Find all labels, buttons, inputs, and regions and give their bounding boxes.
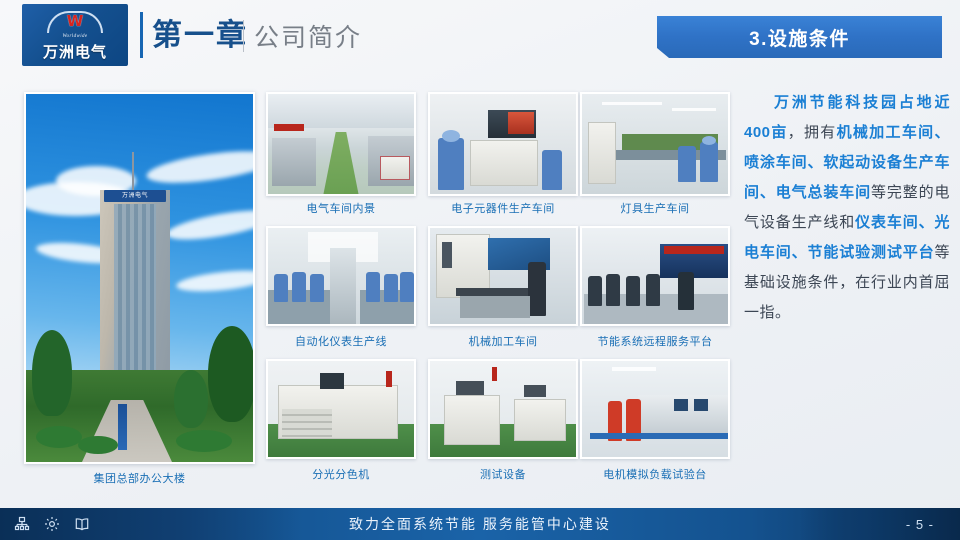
sitemap-icon[interactable]: [14, 516, 30, 532]
gallery-caption-9: 电机模拟负载试验台: [580, 466, 730, 482]
slide-footer: 致力全面系统节能 服务能管中心建设: [0, 508, 960, 540]
gallery-photo-5: [428, 226, 578, 326]
section-badge: 3.设施条件: [657, 16, 942, 58]
gallery-caption-5: 机械加工车间: [428, 333, 578, 349]
logo-emblem-icon: W: [47, 11, 103, 33]
gallery-caption-8: 测试设备: [428, 466, 578, 482]
gallery-caption-7: 分光分色机: [266, 466, 416, 482]
gallery-caption-2: 电子元器件生产车间: [428, 200, 578, 216]
building-sign: 万洲电气: [104, 190, 166, 202]
gallery-caption-6: 节能系统远程服务平台: [580, 333, 730, 349]
gallery-photo-4: [266, 226, 416, 326]
title-separator: [243, 20, 244, 52]
headquarters-photo-caption: 集团总部办公大楼: [24, 470, 255, 486]
logo-emblem-letter: W: [47, 13, 103, 30]
gallery-photo-3: [580, 92, 730, 196]
description-panel: 万洲节能科技园占地近400亩，拥有机械加工车间、喷涂车间、软起动设备生产车间、电…: [744, 88, 950, 488]
gallery-item-4: [266, 226, 416, 326]
gallery-photo-9: [580, 359, 730, 459]
gallery-photo-2: [428, 92, 578, 196]
gallery-item-7: [266, 359, 416, 459]
gallery-item-6: [580, 226, 730, 326]
gallery-item-9: [580, 359, 730, 459]
slide-header: W Worldwide 万洲电气 第一章 公司简介 3.设施条件: [0, 0, 960, 78]
gallery-photo-7: [266, 359, 416, 459]
gallery-caption-3: 灯具生产车间: [580, 200, 730, 216]
headquarters-photo: 万洲电气: [24, 92, 255, 464]
page-number: - 5 -: [906, 508, 934, 540]
logo-company-name: 万洲电气: [43, 41, 107, 62]
gallery-caption-4: 自动化仪表生产线: [266, 333, 416, 349]
gallery-item-1: [266, 92, 416, 196]
page-title: 公司简介: [254, 20, 362, 56]
gallery-item-5: [428, 226, 578, 326]
slide-canvas: W Worldwide 万洲电气 第一章 公司简介 3.设施条件 万洲电气 集团…: [0, 0, 960, 540]
description-paragraph: 万洲节能科技园占地近400亩，拥有机械加工车间、喷涂车间、软起动设备生产车间、电…: [744, 88, 950, 328]
company-logo: W Worldwide 万洲电气: [22, 4, 128, 66]
gallery-photo-8: [428, 359, 578, 459]
footer-icon-group: [14, 508, 90, 540]
book-icon[interactable]: [74, 516, 90, 532]
body-text: ，拥有: [788, 124, 837, 141]
gallery-item-2: [428, 92, 578, 196]
gallery-item-8: [428, 359, 578, 459]
gallery-photo-6: [580, 226, 730, 326]
section-badge-label: 3.设施条件: [749, 24, 850, 51]
chapter-label: 第一章: [152, 16, 248, 56]
logo-latin-text: Worldwide: [62, 34, 87, 39]
footer-slogan: 致力全面系统节能 服务能管中心建设: [0, 508, 960, 540]
gallery-photo-1: [266, 92, 416, 196]
gear-icon[interactable]: [44, 516, 60, 532]
header-accent-bar: [140, 12, 143, 58]
gallery-item-3: [580, 92, 730, 196]
gallery-caption-1: 电气车间内景: [266, 200, 416, 216]
